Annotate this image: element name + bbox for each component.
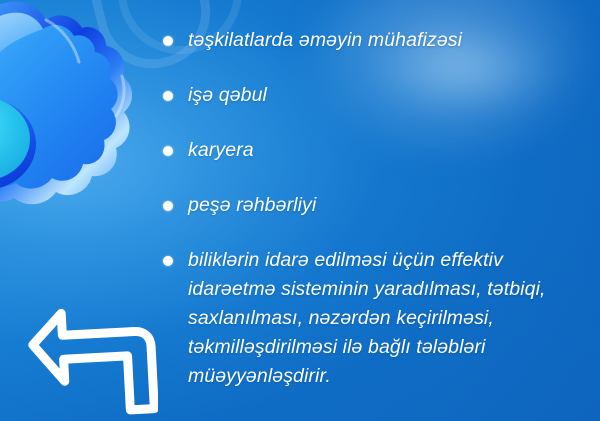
bullet-text: təşkilatlarda əməyin mühafizəsi	[188, 26, 462, 55]
bullet-text: biliklərin idarə edilməsi üçün effektiv …	[188, 246, 550, 391]
bullet-dot-icon	[163, 146, 173, 156]
gear-icon	[0, 0, 162, 226]
bullet-list: təşkilatlarda əməyin mühafizəsi işə qəbu…	[163, 26, 586, 391]
bullet-text: karyera	[188, 136, 254, 165]
bullet-dot-icon	[163, 201, 173, 211]
bullet-dot-icon	[163, 36, 173, 46]
bullet-dot-icon	[163, 91, 173, 101]
list-item: peşə rəhbərliyi	[163, 191, 586, 220]
list-item: karyera	[163, 136, 586, 165]
list-item: biliklərin idarə edilməsi üçün effektiv …	[163, 246, 586, 391]
bullet-text: peşə rəhbərliyi	[188, 191, 316, 220]
list-item: işə qəbul	[163, 81, 586, 110]
list-item: təşkilatlarda əməyin mühafizəsi	[163, 26, 586, 55]
bullet-text: işə qəbul	[188, 81, 267, 110]
arrow-up-left-icon	[18, 300, 158, 421]
slide-canvas: təşkilatlarda əməyin mühafizəsi işə qəbu…	[0, 0, 600, 421]
bullet-dot-icon	[163, 256, 173, 266]
